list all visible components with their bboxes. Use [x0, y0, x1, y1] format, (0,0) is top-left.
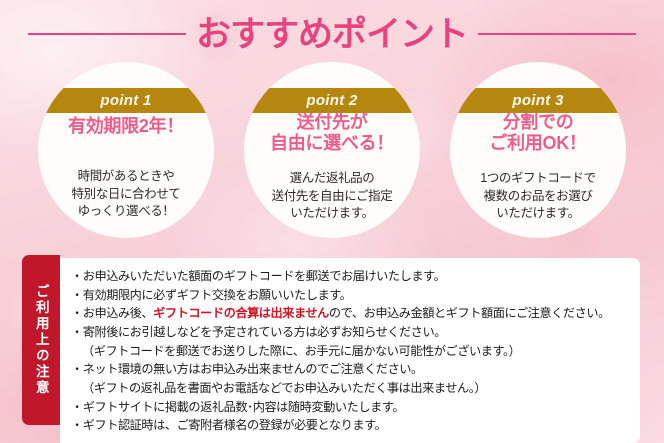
notice-tab: ご利用上の注意 [22, 255, 60, 425]
point-body-2: 選んだ返礼品の 送付先を自由にご指定 いただけます。 [248, 170, 416, 222]
notice-line: （ギフトの返礼品を書面やお電話などでお申込みいただく事は出来ません。） [71, 379, 630, 398]
point-card-1: point 1 有効期限2年！ 時間があるときや 特別な日に合わせて ゆっくり選… [38, 62, 214, 238]
notice-tab-label: ご利用上の注意 [34, 284, 48, 396]
section-header: おすすめポイント [0, 6, 664, 62]
notice-line: ・お申込みいただいた額面のギフトコードを郵送でお届けいたします。 [71, 267, 630, 286]
notice-line-emphasis: ギフトコードの合算は出来ません [153, 306, 329, 320]
notice-list: ・お申込みいただいた額面のギフトコードを郵送でお届けいたします。・有効期限内に必… [60, 258, 640, 443]
page-title: おすすめポイント [196, 17, 468, 52]
divider-line-left-icon [28, 33, 186, 35]
notice-line: ・ギフト認証時は、ご寄附者様名の登録が必要となります。 [71, 416, 630, 435]
notice-section: ご利用上の注意 ・お申込みいただいた額面のギフトコードを郵送でお届けいたします。… [22, 255, 640, 443]
notice-line: ・お申込み後、ギフトコードの合算は出来ませんので、お申込み金額とギフト額面にご注… [71, 304, 630, 323]
notice-line: ・寄附後にお引越しなどを予定されている方は必ずお知らせください。 [71, 323, 630, 342]
point-badge-band-1: point 1 [38, 88, 214, 113]
notice-line: ・有効期限内に必ずギフト交換をお願いいたします。 [71, 286, 630, 305]
point-body-1: 時間があるときや 特別な日に合わせて ゆっくり選べる！ [42, 168, 210, 220]
notice-line: ・ネット環境の無い方はお申込み出来ませんのでご注意ください。 [71, 360, 630, 379]
point-headline-2: 送付先が 自由に選べる！ [244, 112, 420, 153]
points-row: point 1 有効期限2年！ 時間があるときや 特別な日に合わせて ゆっくり選… [0, 62, 664, 242]
notice-line: （ギフトコードを郵送でお送りした際に、お手元に届かない可能性がございます。） [71, 342, 630, 361]
point-badge-label-2: point 2 [306, 92, 357, 109]
notice-line: ・ギフトサイトに掲載の返礼品数･内容は随時変動いたします。 [71, 398, 630, 417]
point-headline-1: 有効期限2年！ [38, 116, 214, 137]
notice-line-suffix: ので、お申込み金額とギフト額面にご注意ください。 [329, 306, 610, 320]
point-badge-band-3: point 3 [450, 88, 626, 113]
point-body-3: 1つのギフトコードで 複数のお品をお選び いただけます。 [454, 170, 622, 222]
notice-line-prefix: ・お申込み後、 [71, 306, 153, 320]
point-card-3: point 3 分割での ご利用OK！ 1つのギフトコードで 複数のお品をお選び… [450, 62, 626, 238]
point-badge-band-2: point 2 [244, 88, 420, 113]
divider-line-right-icon [478, 33, 636, 35]
point-badge-label-3: point 3 [512, 92, 563, 109]
point-headline-3: 分割での ご利用OK！ [450, 112, 626, 153]
point-card-2: point 2 送付先が 自由に選べる！ 選んだ返礼品の 送付先を自由にご指定 … [244, 62, 420, 238]
point-badge-label-1: point 1 [100, 92, 151, 109]
